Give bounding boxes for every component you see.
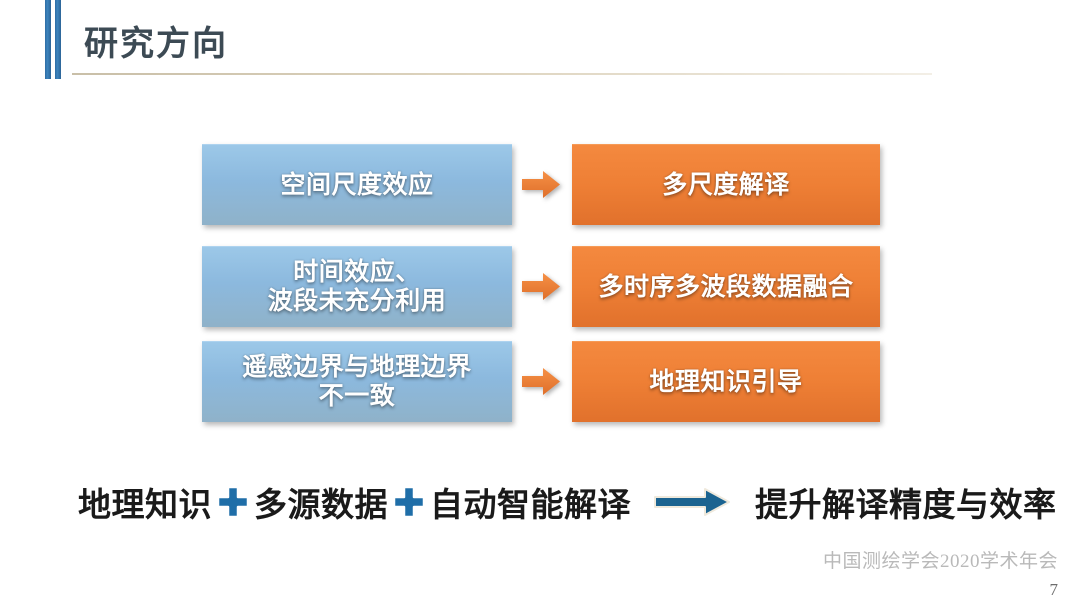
flow-row: 时间效应、 波段未充分利用 多时序多波段数据融合 [0, 246, 1080, 326]
right-block-arrow-icon-1 [522, 171, 560, 198]
problem-box-3-line2: 不一致 [319, 382, 396, 410]
problem-box-3-line1: 遥感边界与地理边界 [242, 353, 472, 381]
summary-formula-line: 地理知识 多源数据 自动智能解译 提升解译精度与效率 [78, 477, 1018, 527]
formula-term-2: 多源数据 [254, 478, 388, 526]
problem-box-3-label: 遥感边界与地理边界 不一致 [238, 353, 476, 411]
formula-result: 提升解译精度与效率 [755, 478, 1057, 526]
problem-box-2: 时间效应、 波段未充分利用 [202, 246, 512, 327]
problem-box-1: 空间尺度效应 [202, 144, 512, 225]
solution-box-2: 多时序多波段数据融合 [572, 246, 880, 327]
problem-box-3: 遥感边界与地理边界 不一致 [202, 341, 512, 422]
formula-term-3: 自动智能解译 [430, 478, 631, 526]
footer-conference-name: 中国测绘学会2020学术年会 [823, 546, 1058, 573]
long-right-arrow-icon [653, 485, 731, 519]
right-block-arrow-icon-2 [522, 273, 560, 300]
formula-term-1: 地理知识 [78, 478, 212, 526]
right-block-arrow-icon-3 [522, 368, 560, 395]
solution-box-1: 多尺度解译 [572, 144, 880, 225]
flow-row: 遥感边界与地理边界 不一致 地理知识引导 [0, 341, 1080, 421]
solution-box-3: 地理知识引导 [572, 341, 880, 422]
solution-box-3-label: 地理知识引导 [645, 368, 806, 397]
solution-box-1-label: 多尺度解译 [658, 171, 794, 200]
problem-box-2-label: 时间效应、 波段未充分利用 [264, 258, 451, 316]
page-number: 7 [1050, 580, 1059, 600]
problem-box-1-label: 空间尺度效应 [276, 171, 437, 200]
solution-box-2-label: 多时序多波段数据融合 [594, 273, 857, 302]
plus-icon-1 [215, 484, 251, 520]
flow-row: 空间尺度效应 多尺度解译 [0, 144, 1080, 224]
plus-icon-2 [391, 484, 427, 520]
problem-box-2-line2: 波段未充分利用 [268, 287, 447, 315]
problem-box-2-line1: 时间效应、 [293, 258, 421, 286]
